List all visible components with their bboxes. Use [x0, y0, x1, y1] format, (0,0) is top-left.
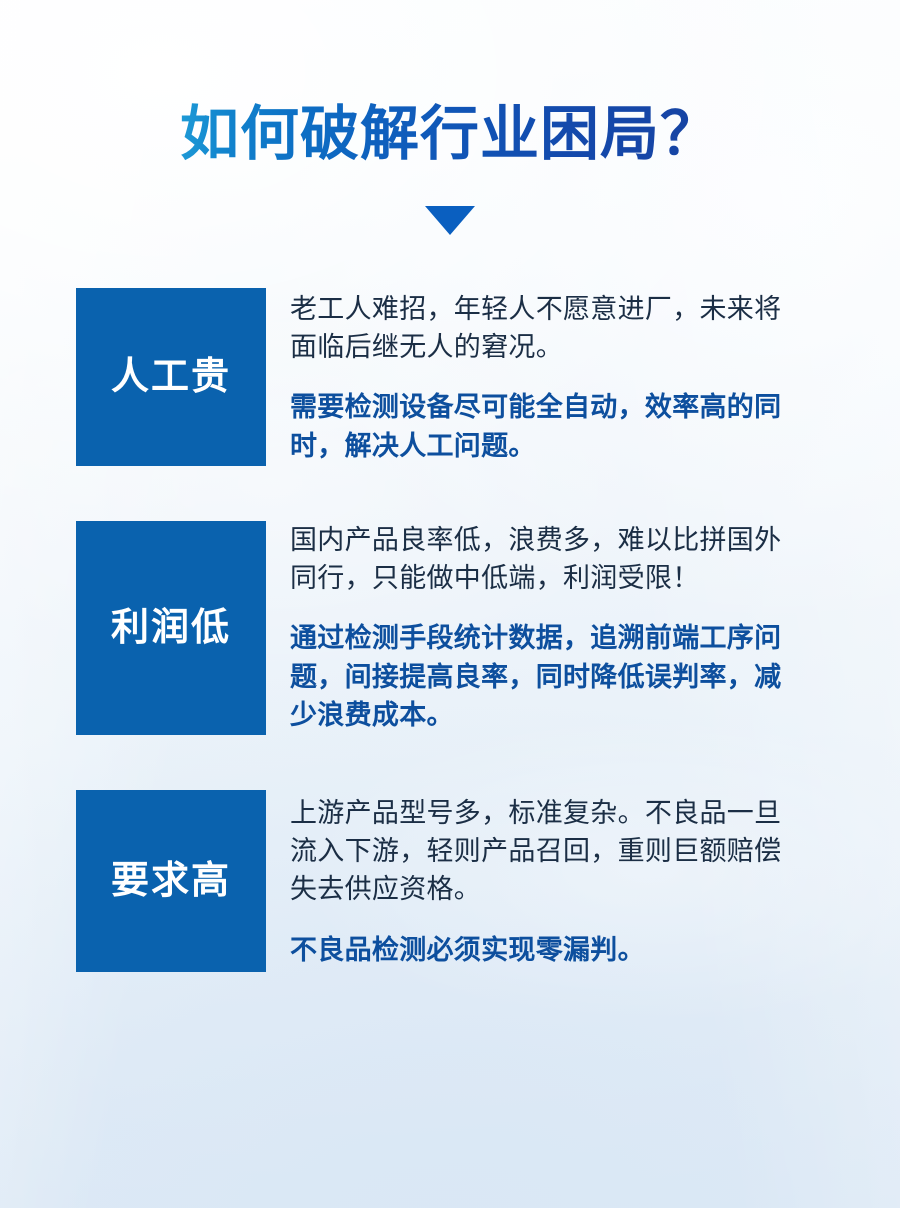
arrow-container — [0, 206, 900, 240]
block-badge-high-requirement: 要求高 — [76, 790, 266, 972]
problem-statement: 国内产品良率低，浪费多，难以比拼国外同行，只能做中低端，利润受限！ — [290, 521, 802, 598]
block-text-group: 国内产品良率低，浪费多，难以比拼国外同行，只能做中低端，利润受限！ 通过检测手段… — [266, 521, 802, 735]
block-badge-low-profit: 利润低 — [76, 521, 266, 735]
problem-statement: 上游产品型号多，标准复杂。不良品一旦流入下游，轻则产品召回，重则巨额赔偿失去供应… — [290, 794, 802, 909]
problem-block: 人工贵 老工人难招，年轻人不愿意进厂，未来将面临后继无人的窘况。 需要检测设备尽… — [0, 288, 900, 466]
block-text-group: 上游产品型号多，标准复杂。不良品一旦流入下游，轻则产品召回，重则巨额赔偿失去供应… — [266, 790, 802, 969]
block-text-group: 老工人难招，年轻人不愿意进厂，未来将面临后继无人的窘况。 需要检测设备尽可能全自… — [266, 288, 802, 465]
triangle-down-icon — [425, 206, 475, 235]
page-title: 如何破解行业困局？ — [180, 103, 720, 166]
problem-blocks-list: 人工贵 老工人难招，年轻人不愿意进厂，未来将面临后继无人的窘况。 需要检测设备尽… — [0, 288, 900, 972]
poster-page: 如何破解行业困局？ 人工贵 老工人难招，年轻人不愿意进厂，未来将面临后继无人的窘… — [0, 0, 900, 1208]
problem-statement: 老工人难招，年轻人不愿意进厂，未来将面临后继无人的窘况。 — [290, 290, 802, 367]
solution-statement: 需要检测设备尽可能全自动，效率高的同时，解决人工问题。 — [290, 388, 802, 465]
problem-block: 要求高 上游产品型号多，标准复杂。不良品一旦流入下游，轻则产品召回，重则巨额赔偿… — [0, 790, 900, 972]
problem-block: 利润低 国内产品良率低，浪费多，难以比拼国外同行，只能做中低端，利润受限！ 通过… — [0, 521, 900, 735]
poster-content: 如何破解行业困局？ 人工贵 老工人难招，年轻人不愿意进厂，未来将面临后继无人的窘… — [0, 0, 900, 972]
headline-container: 如何破解行业困局？ — [0, 0, 900, 166]
solution-statement: 通过检测手段统计数据，追溯前端工序问题，间接提高良率，同时降低误判率，减少浪费成… — [290, 619, 802, 734]
block-badge-labor-cost: 人工贵 — [76, 288, 266, 466]
solution-statement: 不良品检测必须实现零漏判。 — [290, 931, 802, 969]
